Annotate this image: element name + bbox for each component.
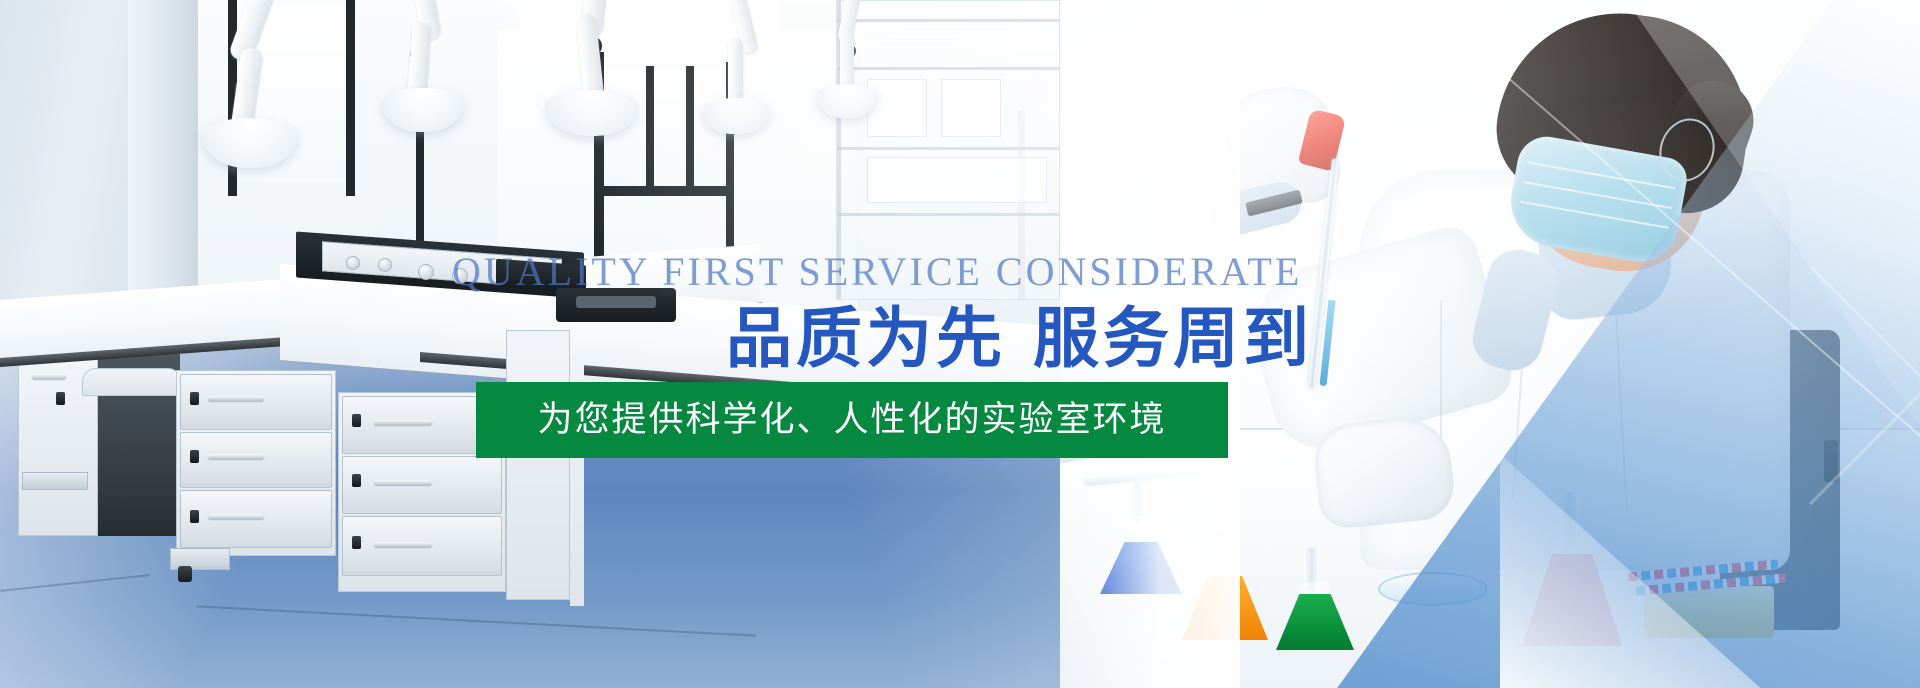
green-subtitle-bar: 为您提供科学化、人性化的实验室环境: [476, 382, 1228, 458]
english-tagline: QUALITY FIRST SERVICE CONSIDERATE: [452, 252, 1302, 292]
chinese-subtitle: 为您提供科学化、人性化的实验室环境: [537, 403, 1166, 438]
lab-hero-banner: QUALITY FIRST SERVICE CONSIDERATE 品质为先 服…: [0, 0, 1920, 688]
banner-copy: QUALITY FIRST SERVICE CONSIDERATE 品质为先 服…: [0, 0, 1920, 688]
chinese-headline: 品质为先 服务周到: [726, 306, 1313, 372]
